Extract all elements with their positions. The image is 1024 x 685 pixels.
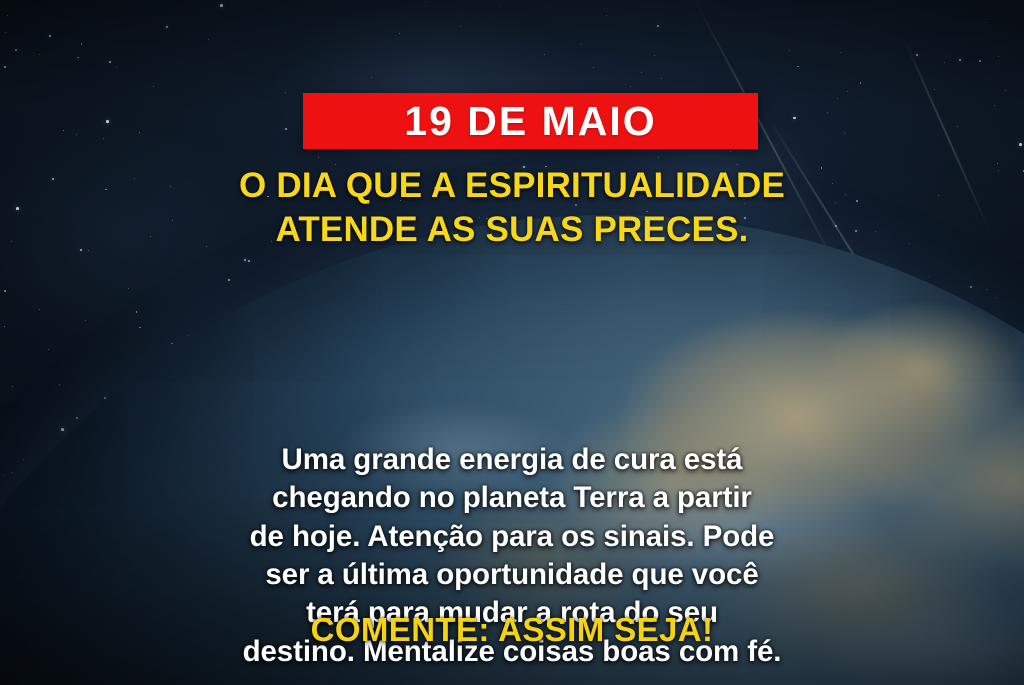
body-line-1: Uma grande energia de cura está: [52, 441, 972, 479]
body-line-4: ser a última oportunidade que você: [52, 556, 972, 594]
headline-line-2: ATENDE AS SUAS PRECES.: [40, 208, 984, 252]
content-layer: 19 DE MAIO O DIA QUE A ESPIRITUALIDADE A…: [0, 0, 1024, 685]
headline-line-1: O DIA QUE A ESPIRITUALIDADE: [239, 166, 785, 205]
date-banner-label: 19 DE MAIO: [404, 101, 656, 142]
body-line-2: chegando no planeta Terra a partir: [52, 479, 972, 517]
call-to-action-label: COMENTE: ASSIM SEJA!: [311, 611, 714, 648]
poster-canvas: 19 DE MAIO O DIA QUE A ESPIRITUALIDADE A…: [0, 0, 1024, 685]
body-line-3: de hoje. Atenção para os sinais. Pode: [52, 518, 972, 556]
call-to-action: COMENTE: ASSIM SEJA!: [0, 612, 1024, 648]
date-banner: 19 DE MAIO: [303, 93, 758, 149]
headline: O DIA QUE A ESPIRITUALIDADE ATENDE AS SU…: [0, 164, 1024, 252]
